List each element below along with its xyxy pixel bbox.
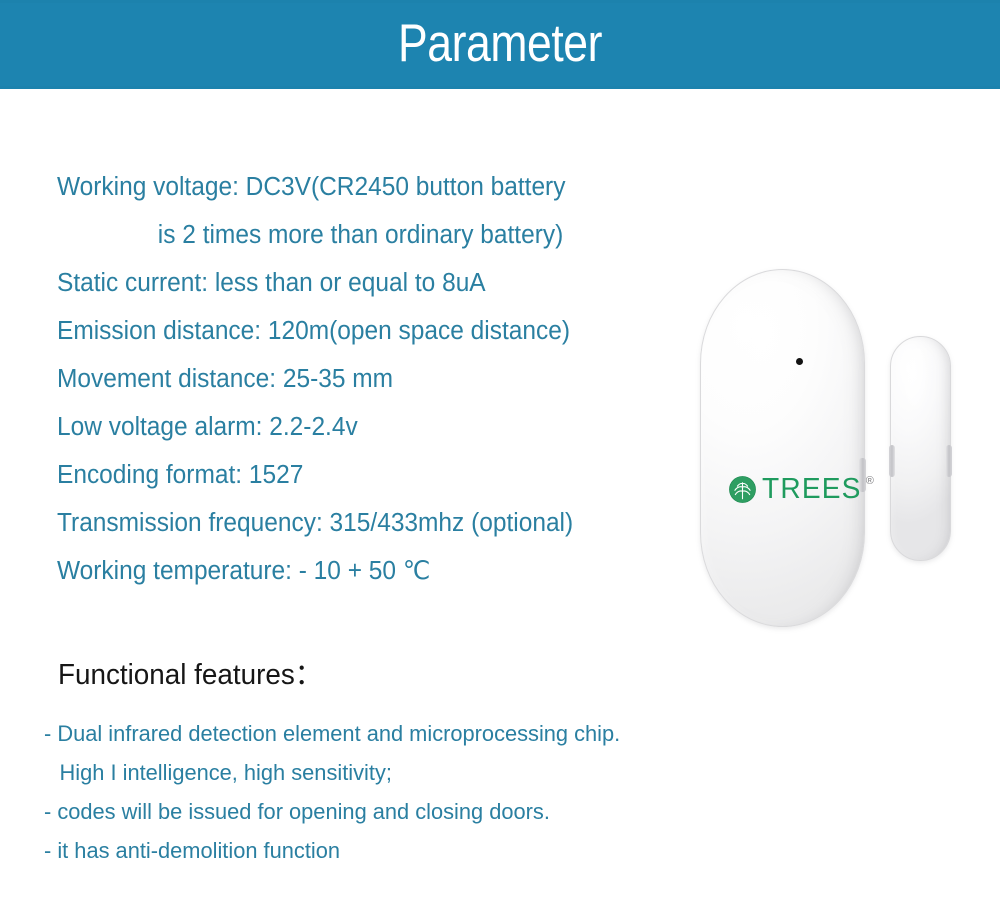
- spec-line: Low voltage alarm: 2.2-2.4v: [57, 403, 633, 451]
- feature-line: High I intelligence, high sensitivity;: [44, 753, 742, 792]
- spec-line: Working voltage: DC3V(CR2450 button batt…: [57, 163, 633, 211]
- functional-features-list: - Dual infrared detection element and mi…: [44, 714, 764, 870]
- tree-logo-icon: [729, 476, 756, 503]
- sensor-magnet-piece: [890, 336, 951, 561]
- spec-line: Static current: less than or equal to 8u…: [57, 259, 633, 307]
- sensor-side-notch: [859, 458, 866, 492]
- magnet-highlight: [900, 348, 934, 442]
- page-header-banner: Parameter: [0, 0, 1000, 89]
- feature-line: - Dual infrared detection element and mi…: [44, 714, 742, 753]
- page-title: Parameter: [80, 9, 920, 79]
- functional-features-heading: Functional features：: [58, 655, 323, 695]
- sensor-main-body: TREES ®: [700, 269, 865, 627]
- spec-line: Transmission frequency: 315/433mhz (opti…: [57, 499, 633, 547]
- spec-line: Working temperature: - 10 + 50 ℃: [57, 547, 633, 595]
- registered-trademark-icon: ®: [866, 476, 874, 487]
- brand-name: TREES: [762, 475, 862, 504]
- led-indicator-dot: [796, 358, 803, 365]
- magnet-side-notch-left: [889, 445, 895, 477]
- banner-background: Parameter: [0, 3, 1000, 86]
- brand-logo: TREES ®: [729, 475, 874, 504]
- feature-line: - codes will be issued for opening and c…: [44, 792, 742, 831]
- spec-line: Encoding format: 1527: [57, 451, 633, 499]
- product-image: TREES ®: [690, 262, 970, 637]
- magnet-side-notch-right: [946, 445, 952, 477]
- specification-list: Working voltage: DC3V(CR2450 button batt…: [57, 163, 657, 595]
- feature-line: - it has anti-demolition function: [44, 831, 742, 870]
- spec-line: Emission distance: 120m(open space dista…: [57, 307, 633, 355]
- sensor-body-highlight: [721, 284, 822, 448]
- spec-line: is 2 times more than ordinary battery): [57, 211, 633, 259]
- spec-line: Movement distance: 25-35 mm: [57, 355, 633, 403]
